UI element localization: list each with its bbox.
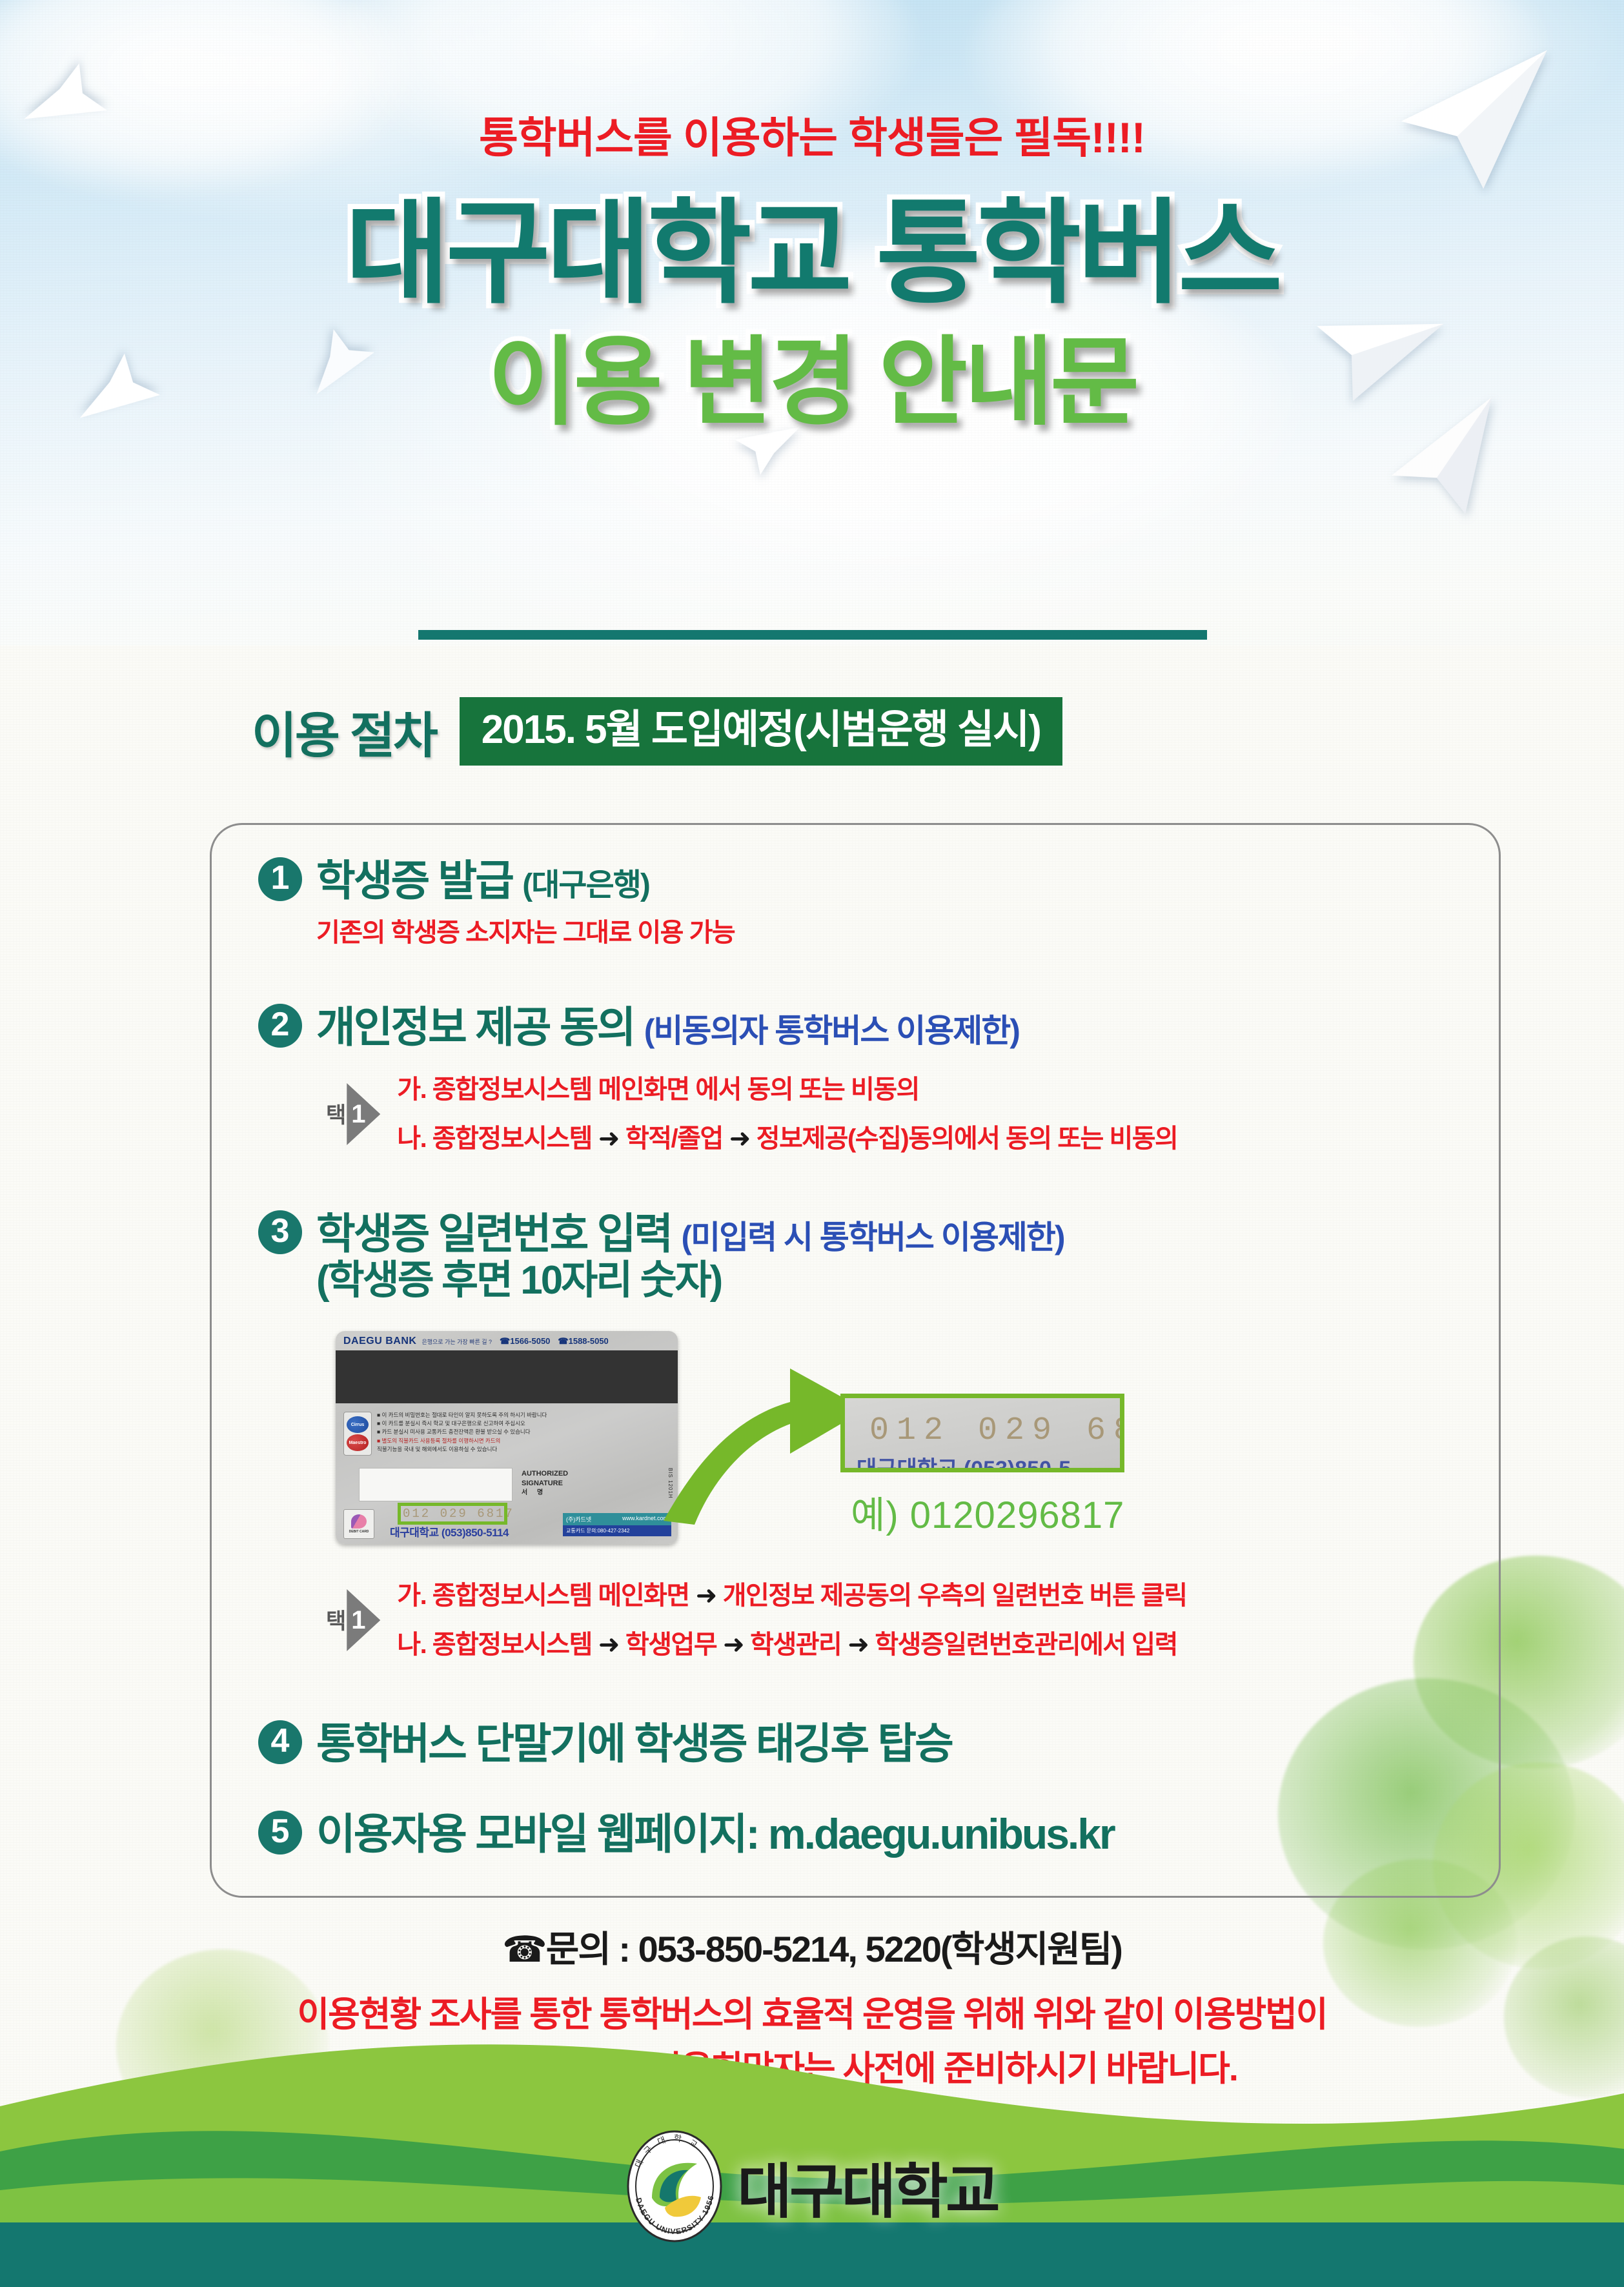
title-divider (418, 630, 1207, 640)
arrow-icon: ➜ (841, 1631, 875, 1659)
arrow-icon: ➜ (689, 1581, 723, 1610)
step-item-2: 2 개인정보 제공 동의 (비동의자 통학버스 이용제한) (258, 1004, 1019, 1052)
choose-one-marker: 택 1 (326, 1589, 380, 1651)
section-badge: 2015. 5월 도입예정(시범운행 실시) (460, 697, 1062, 766)
arrow-icon: ➜ (723, 1124, 756, 1153)
card-notice-line: 직불기능을 국내 및 해외에서도 이용하실 수 있습니다 (377, 1445, 577, 1454)
choose2-line-b: 나. 종합정보시스템➜학적/졸업➜정보제공(수집)동의에서 동의 또는 비동의 (397, 1126, 1177, 1152)
arrow-icon: ➜ (592, 1631, 625, 1659)
serial-example-text: 예) 0120296817 (851, 1485, 1124, 1539)
card-notice-line: ■ 이 카드를 분실시 즉시 학교 및 대구은행으로 신고하여 주십시오 (377, 1419, 577, 1428)
step-4-title: 통학버스 단말기에 학생증 태깅후 탑승 (316, 1720, 952, 1768)
university-logo-text: 대구대학교 (737, 2144, 997, 2230)
step-1-title: 학생증 발급 (대구은행) (316, 857, 735, 905)
card-tel-2: ☎1588-5050 (558, 1336, 608, 1347)
title-line-1: 대구대학교 통학버스 (0, 194, 1624, 314)
step-1-paren: (대구은행) (522, 868, 649, 902)
cirrus-icon: Cirrus (347, 1416, 369, 1433)
card-tel-1: ☎1566-5050 (500, 1336, 550, 1347)
step-number-badge: 3 (258, 1210, 302, 1254)
step-item-1: 1 학생증 발급 (대구은행) 기존의 학생증 소지자는 그대로 이용 가능 (258, 857, 735, 949)
arrow-icon: ➜ (592, 1124, 625, 1153)
step-item-4: 4 통학버스 단말기에 학생증 태깅후 탑승 (258, 1720, 952, 1768)
choose-label: 택 (326, 1611, 345, 1632)
step-number-badge: 2 (258, 1004, 302, 1048)
section-header: 이용 절차 2015. 5월 도입예정(시범운행 실시) (252, 696, 1062, 767)
choose-one-group-step3: 택 1 가. 종합정보시스템 메인화면➜개인정보 제공동의 우측의 일련번호 버… (326, 1583, 1187, 1658)
choose-triangle-icon: 1 (347, 1589, 380, 1651)
step-3-title: 학생증 일련번호 입력 (미입력 시 통학버스 이용제한) (316, 1210, 1064, 1258)
debit-card-logo: DEBIT CARD (343, 1509, 374, 1539)
step-number-badge: 5 (258, 1811, 302, 1855)
maestro-icon: Maestro (347, 1434, 369, 1451)
card-authorized-signature-label: AUTHORIZED SIGNATURE 서 명 (522, 1469, 568, 1497)
poster-root: 통학버스를 이용하는 학생들은 필독!!!! 대구대학교 통학버스 이용 변경 … (0, 0, 1624, 2287)
card-notice-line: ■ 카드 분실시 미사용 교통카드 충전잔액은 환불 받으실 수 있습니다 (377, 1428, 577, 1436)
choose-one-marker: 택 1 (326, 1083, 380, 1145)
step-2-title: 개인정보 제공 동의 (비동의자 통학버스 이용제한) (316, 1004, 1019, 1052)
step-3-subtitle: (학생증 후면 10자리 숫자) (316, 1258, 1064, 1304)
poster-title: 대구대학교 통학버스 이용 변경 안내문 (0, 194, 1624, 434)
card-bank-header: DAEGU BANK 은행으로 가는 가장 빠른 길 ? ☎1566-5050 … (343, 1336, 673, 1347)
card-network-logos: Cirrus Maestro (343, 1412, 372, 1456)
step-2-paren: (비동의자 통학버스 이용제한) (644, 1013, 1019, 1049)
card-notice-text: ■ 이 카드의 비밀번호는 절대로 타인이 알지 못하도록 주의 하시기 바랍니… (377, 1411, 577, 1454)
step-1-subtext: 기존의 학생증 소지자는 그대로 이용 가능 (316, 911, 735, 949)
choose-number: 1 (351, 1607, 365, 1633)
step-5-title: 이용자용 모바일 웹페이지: m.daegu.unibus.kr (316, 1811, 1114, 1858)
bank-card-back: DAEGU BANK 은행으로 가는 가장 빠른 길 ? ☎1566-5050 … (336, 1331, 678, 1544)
green-arrow-icon (652, 1343, 871, 1530)
choose-one-group-step2: 택 1 가. 종합정보시스템 메인화면 에서 동의 또는 비동의 나. 종합정보… (326, 1077, 1177, 1152)
step-number-badge: 4 (258, 1720, 302, 1764)
card-university-line: 대구대학교 (053)850-5114 (390, 1523, 509, 1540)
university-logo: 대 구 대 학 교 DAEGU UNIVERSITY 1956 대구대학교 (0, 2130, 1624, 2243)
step-3-paren: (미입력 시 통학버스 이용제한) (682, 1219, 1064, 1255)
kicker-text: 통학버스를 이용하는 학생들은 필독!!!! (0, 103, 1624, 165)
step-item-5: 5 이용자용 모바일 웹페이지: m.daegu.unibus.kr (258, 1811, 1114, 1858)
choose3-line-b: 나. 종합정보시스템➜학생업무➜학생관리➜학생증일련번호관리에서 입력 (397, 1632, 1186, 1658)
card-notice-line: ■ 별도의 직불카드 사용등록 절차를 이행하시면 카드의 (377, 1437, 577, 1445)
card-bank-name: DAEGU BANK (343, 1336, 416, 1347)
step-item-3: 3 학생증 일련번호 입력 (미입력 시 통학버스 이용제한) (학생증 후면 … (258, 1210, 1064, 1304)
zoom-serial-number: 012 029 6817 (869, 1412, 1124, 1449)
card-signature-panel (359, 1468, 513, 1501)
title-line-2: 이용 변경 안내문 (0, 331, 1624, 434)
choose3-line-a: 가. 종합정보시스템 메인화면➜개인정보 제공동의 우측의 일련번호 버튼 클릭 (397, 1583, 1186, 1609)
choose-label: 택 (326, 1104, 345, 1126)
choose-number: 1 (351, 1101, 365, 1127)
zoom-sub-line: 대구대학교 (053)850-5 (857, 1451, 1071, 1472)
debit-glyph-icon (351, 1514, 367, 1529)
card-serial-highlight-box (398, 1503, 507, 1525)
card-magnetic-stripe (336, 1350, 678, 1403)
card-notice-line: ■ 이 카드의 비밀번호는 절대로 타인이 알지 못하도록 주의 하시기 바랍니… (377, 1411, 577, 1419)
choose2-line-a: 가. 종합정보시스템 메인화면 에서 동의 또는 비동의 (397, 1077, 1177, 1103)
contact-line: ☎문의 : 053-850-5214, 5220(학생지원팀) (0, 1920, 1624, 1973)
section-title: 이용 절차 (252, 696, 436, 767)
serial-zoom-callout: 012 029 6817 대구대학교 (053)850-5 (840, 1394, 1124, 1472)
step-number-badge: 1 (258, 857, 302, 901)
student-card-image: DAEGU BANK 은행으로 가는 가장 빠른 길 ? ☎1566-5050 … (336, 1331, 678, 1544)
card-bank-slogan: 은행으로 가는 가장 빠른 길 ? (421, 1337, 492, 1346)
arrow-icon: ➜ (716, 1631, 750, 1659)
choose-triangle-icon: 1 (347, 1083, 380, 1145)
university-emblem-icon: 대 구 대 학 교 DAEGU UNIVERSITY 1956 (626, 2130, 723, 2243)
